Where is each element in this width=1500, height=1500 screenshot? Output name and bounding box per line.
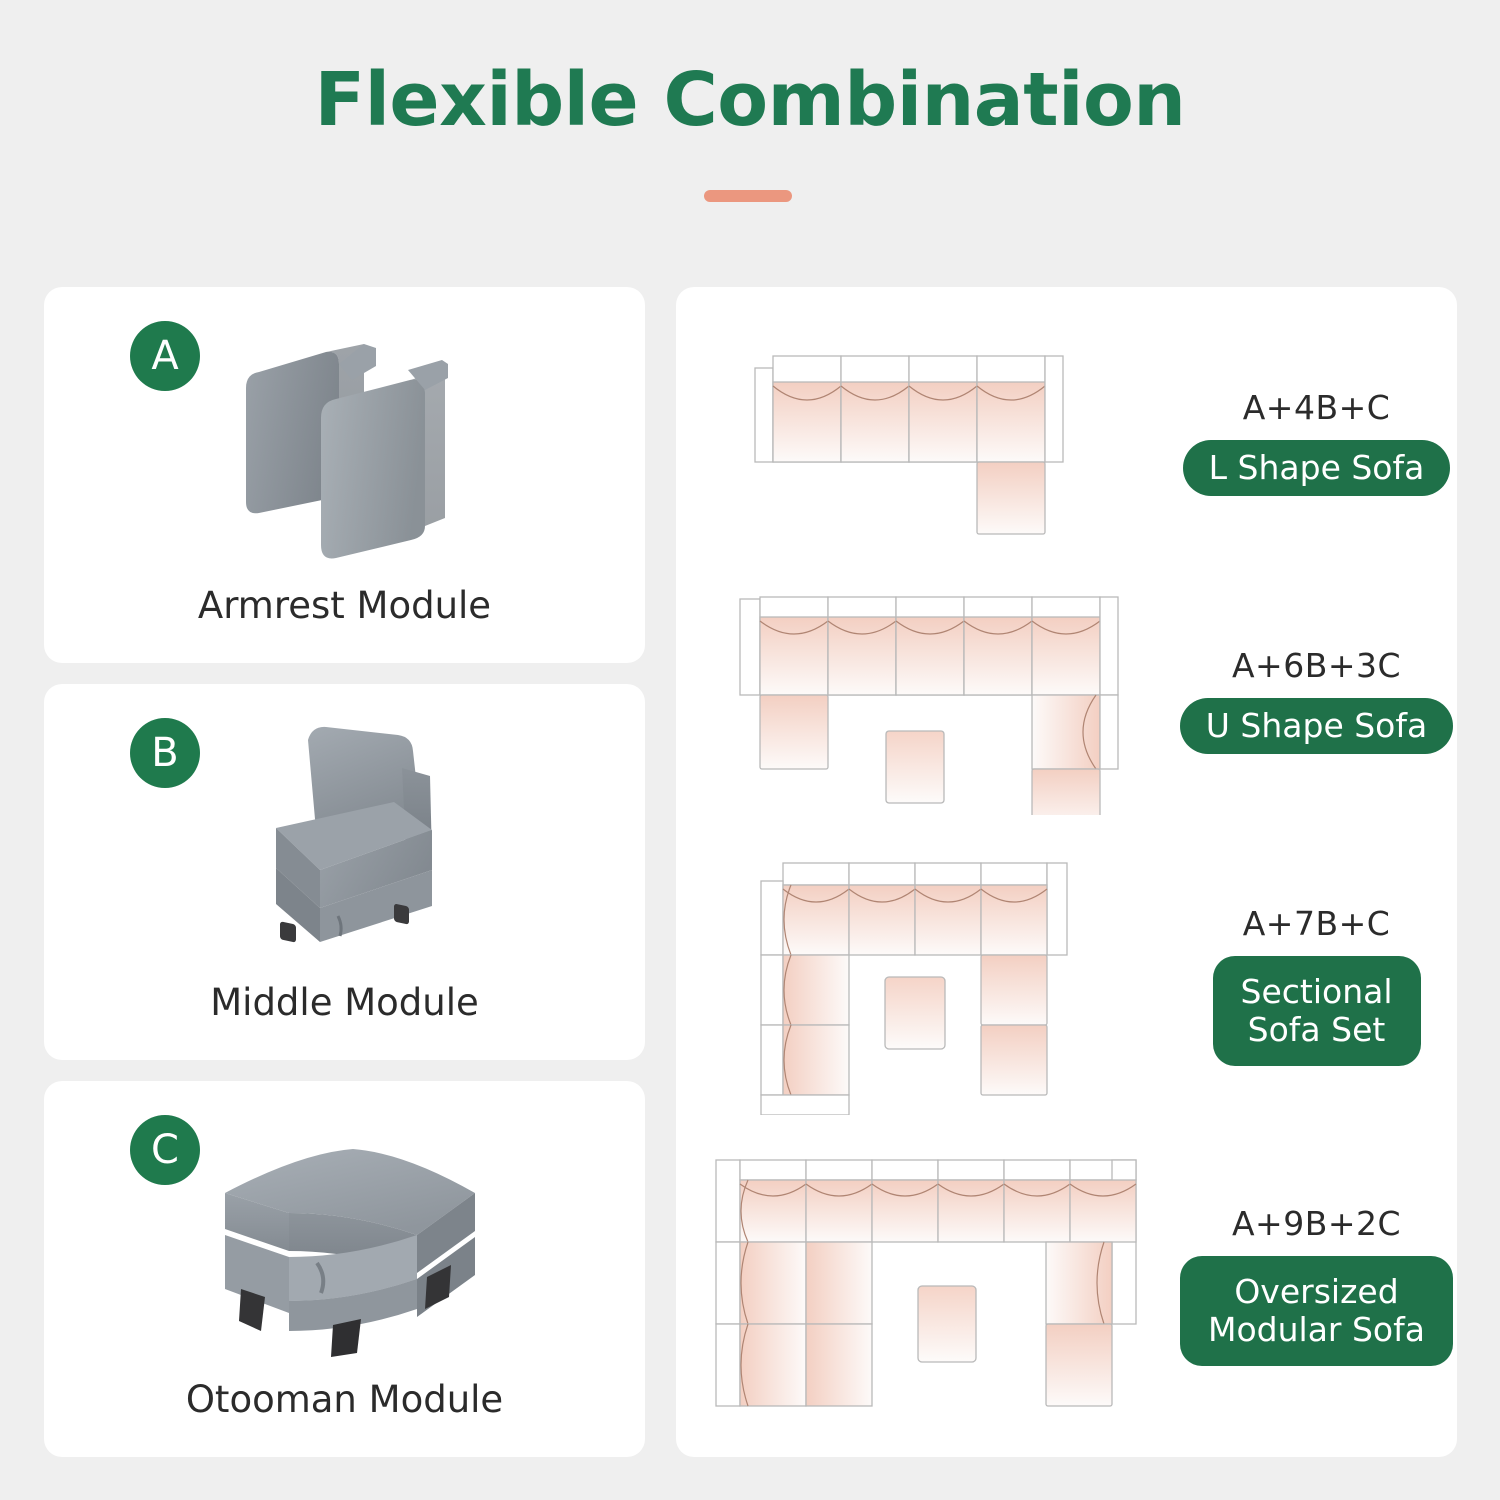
combination-code: A+7B+C: [1243, 904, 1391, 943]
combination-meta-sectional: A+7B+C Sectional Sofa Set: [1176, 835, 1457, 1135]
combination-code: A+9B+2C: [1232, 1204, 1401, 1243]
middle-module-illustration: [44, 706, 645, 974]
page-title: Flexible Combination: [0, 62, 1500, 140]
combination-code: A+4B+C: [1243, 388, 1391, 427]
module-card-ottoman[interactable]: C: [44, 1081, 645, 1457]
combination-name-badge[interactable]: U Shape Sofa: [1180, 698, 1453, 754]
u-shape-sofa-diagram: [676, 565, 1176, 835]
armrest-module-illustration: [44, 309, 645, 577]
module-card-armrest[interactable]: A: [44, 287, 645, 663]
module-label-middle: Middle Module: [44, 981, 645, 1024]
combination-name-badge[interactable]: Sectional Sofa Set: [1213, 956, 1421, 1067]
combination-name-line-1: Sectional: [1241, 973, 1393, 1011]
combinations-panel: A+4B+C L Shape Sofa: [676, 287, 1457, 1457]
combination-meta-l-shape: A+4B+C L Shape Sofa: [1176, 317, 1457, 567]
combination-name-badge[interactable]: L Shape Sofa: [1183, 440, 1451, 496]
combination-name-line-2: Modular Sofa: [1208, 1311, 1425, 1349]
combination-name-badge[interactable]: Oversized Modular Sofa: [1180, 1256, 1453, 1367]
flexible-combination-infographic: Flexible Combination A: [0, 0, 1500, 1500]
combination-code: A+6B+3C: [1232, 646, 1401, 685]
combination-row-sectional[interactable]: A+7B+C Sectional Sofa Set: [676, 835, 1457, 1135]
combination-row-l-shape[interactable]: A+4B+C L Shape Sofa: [676, 317, 1457, 567]
oversized-modular-sofa-diagram: [676, 1135, 1176, 1435]
ottoman-module-illustration: [44, 1103, 645, 1371]
combination-row-u-shape[interactable]: A+6B+3C U Shape Sofa: [676, 565, 1457, 835]
combination-meta-u-shape: A+6B+3C U Shape Sofa: [1176, 565, 1457, 835]
combination-row-oversized[interactable]: A+9B+2C Oversized Modular Sofa: [676, 1135, 1457, 1435]
combination-name-line-1: Oversized: [1208, 1273, 1425, 1311]
sectional-sofa-set-diagram: [676, 835, 1176, 1135]
module-label-ottoman: Otooman Module: [44, 1378, 645, 1421]
module-label-armrest: Armrest Module: [44, 584, 645, 627]
title-accent-bar: [704, 190, 792, 202]
l-shape-sofa-diagram: [676, 317, 1176, 567]
module-card-middle[interactable]: B: [44, 684, 645, 1060]
combination-meta-oversized: A+9B+2C Oversized Modular Sofa: [1176, 1135, 1457, 1435]
combination-name-line-2: Sofa Set: [1241, 1011, 1393, 1049]
